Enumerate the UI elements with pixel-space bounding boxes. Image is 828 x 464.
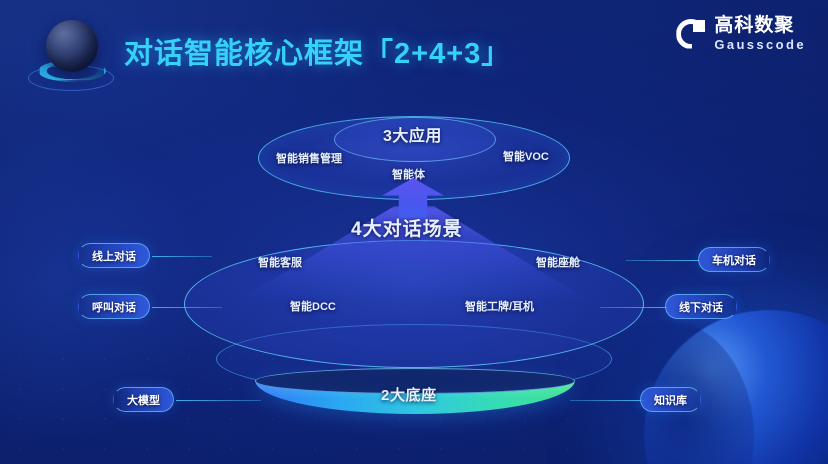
scenario-item-dcc: 智能DCC bbox=[290, 298, 336, 314]
pill-knowledge-base[interactable]: 知识库 bbox=[640, 387, 701, 412]
pill-online-chat[interactable]: 线上对话 bbox=[78, 243, 150, 268]
scenario-item-customer-service: 智能客服 bbox=[258, 254, 302, 270]
pill-large-model[interactable]: 大模型 bbox=[113, 387, 174, 412]
foundation-layer-title: 2大底座 bbox=[381, 384, 437, 405]
connector-line-large-model bbox=[176, 400, 261, 401]
scenario-layer-title: 4大对话场景 bbox=[351, 214, 463, 241]
slide-canvas: 对话智能核心框架「2+4+3」 高科数聚 Gausscode 3大应用 智能销售… bbox=[0, 0, 828, 464]
scenario-item-cockpit: 智能座舱 bbox=[536, 254, 580, 270]
framework-diagram: 3大应用 智能销售管理 智能VOC 智能体 4大对话场景 智能客服 智能座舱 智… bbox=[0, 0, 828, 464]
application-item-voc: 智能VOC bbox=[503, 148, 549, 164]
application-item-agent: 智能体 bbox=[392, 166, 425, 182]
application-item-sales: 智能销售管理 bbox=[276, 150, 342, 166]
scenario-item-badge-headset: 智能工牌/耳机 bbox=[465, 298, 534, 314]
pill-call-chat[interactable]: 呼叫对话 bbox=[78, 294, 150, 319]
pill-offline-chat[interactable]: 线下对话 bbox=[665, 294, 737, 319]
application-layer-title: 3大应用 bbox=[383, 122, 442, 146]
connector-line-knowledge-base bbox=[570, 400, 644, 401]
connector-line-vehicle-chat bbox=[626, 260, 700, 261]
pill-vehicle-chat[interactable]: 车机对话 bbox=[698, 247, 770, 272]
connector-line-online-chat bbox=[152, 256, 212, 257]
connector-line-call-chat bbox=[152, 307, 222, 308]
connector-line-offline-chat bbox=[600, 307, 668, 308]
